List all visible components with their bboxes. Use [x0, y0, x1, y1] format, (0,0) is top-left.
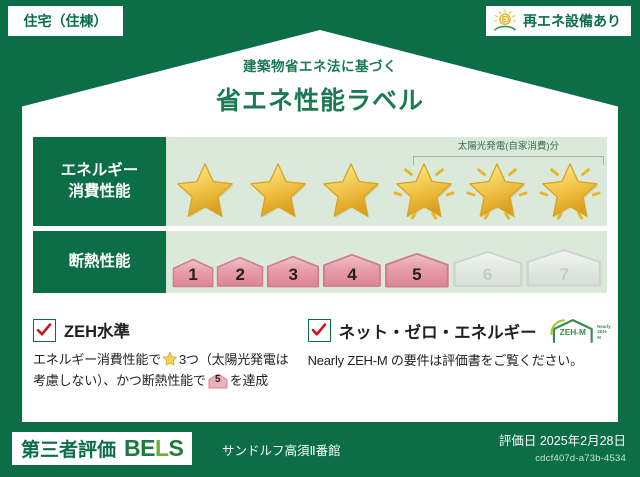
insulation-grade-tile: 5: [384, 252, 450, 288]
energy-performance-row: エネルギー 消費性能 太陽光発電(自家消費)分: [33, 137, 607, 226]
title-subtitle: 建築物省エネ法に基づく: [0, 55, 640, 75]
bels-en-label: BELS: [124, 435, 183, 462]
checkbox-checked-icon: [33, 319, 56, 342]
star-base: [170, 160, 241, 222]
inline-star-icon: [162, 351, 178, 367]
bels-jp-label: 第三者評価: [21, 435, 116, 462]
zeh-desc-part3: を達成: [230, 373, 268, 388]
inline-grade-tile: 5: [208, 373, 228, 389]
energy-label-root: 住宅（住棟） 再エネ設備あり 建築物省エネ法に基づく 省エネ性能ラベル: [0, 0, 640, 477]
category-tab: 住宅（住棟）: [8, 6, 123, 36]
insulation-grade-value: 5: [412, 266, 421, 288]
insulation-grade-tile: 1: [172, 258, 214, 288]
insulation-grade-tile: 2: [216, 256, 264, 288]
page-title: 建築物省エネ法に基づく 省エネ性能ラベル: [0, 55, 640, 117]
criteria-section: ZEH水準 エネルギー消費性能で3つ（太陽光発電は考慮しない）、かつ断熱性能で5…: [33, 318, 611, 391]
criterion-zeh-standard: ZEH水準 エネルギー消費性能で3つ（太陽光発電は考慮しない）、かつ断熱性能で5…: [33, 318, 296, 391]
star-base: [243, 160, 314, 222]
criterion-nze-header: ネット・ゼロ・エネルギー ZEH-M Nearly ZEH-M: [308, 318, 611, 343]
criterion-zeh-description: エネルギー消費性能で3つ（太陽光発電は考慮しない）、かつ断熱性能で5を達成: [33, 349, 296, 391]
solar-sun-icon: [492, 9, 518, 33]
energy-star-rating: [170, 160, 605, 222]
performance-table: エネルギー 消費性能 太陽光発電(自家消費)分 断熱性能 1234567: [33, 137, 607, 298]
insulation-grade-value: 4: [347, 266, 356, 288]
renewable-badge-label: 再エネ設備あり: [523, 11, 621, 31]
insulation-performance-label: 断熱性能: [33, 231, 166, 293]
insulation-grade-tile: 7: [525, 248, 603, 288]
inline-grade-value: 5: [208, 373, 228, 389]
zeh-m-logo-sub: Nearly ZEH-M: [597, 324, 611, 344]
energy-label-line2: 消費性能: [68, 182, 130, 203]
solar-bracket-label: 太陽光発電(自家消費)分: [411, 138, 606, 152]
star-solar: [534, 160, 605, 222]
evaluation-date: 評価日 2025年2月28日: [499, 430, 626, 449]
criterion-nze-description: Nearly ZEH-M の要件は評価書をご覧ください。: [308, 350, 611, 371]
insulation-grade-tile: 3: [266, 255, 320, 288]
criterion-zeh-title: ZEH水準: [64, 318, 130, 342]
star-base: [316, 160, 387, 222]
bels-en-part2: L: [155, 435, 169, 461]
insulation-label-line1: 断熱性能: [68, 252, 130, 273]
document-id: cdcf407d-a73b-4534: [499, 453, 626, 464]
energy-performance-body: 太陽光発電(自家消費)分: [166, 137, 607, 226]
footer-meta: 評価日 2025年2月28日 cdcf407d-a73b-4534: [499, 430, 626, 464]
bels-en-part1: BE: [124, 435, 155, 461]
energy-performance-label: エネルギー 消費性能: [33, 137, 166, 226]
property-name: サンドルフ高須Ⅱ番館: [222, 440, 341, 459]
category-tab-label: 住宅（住棟）: [24, 11, 108, 31]
insulation-grade-value: 2: [235, 266, 244, 288]
insulation-performance-row: 断熱性能 1234567: [33, 231, 607, 293]
title-main: 省エネ性能ラベル: [0, 81, 640, 117]
insulation-grade-value: 7: [559, 266, 568, 288]
zeh-m-sub-line2: ZEH-M: [597, 329, 611, 340]
star-solar: [388, 160, 459, 222]
insulation-performance-body: 1234567: [166, 231, 607, 293]
criterion-net-zero-energy: ネット・ゼロ・エネルギー ZEH-M Nearly ZEH-M Nearly Z…: [308, 318, 611, 391]
criterion-zeh-header: ZEH水準: [33, 318, 296, 342]
insulation-grade-value: 3: [288, 266, 297, 288]
zeh-m-house-icon: ZEH-M: [550, 318, 596, 343]
insulation-grade-tile: 4: [322, 253, 382, 288]
energy-label-line1: エネルギー: [61, 161, 139, 182]
star-solar: [461, 160, 532, 222]
bels-en-part3: S: [169, 435, 184, 461]
checkbox-checked-icon: [308, 319, 331, 342]
zeh-m-logo: ZEH-M Nearly ZEH-M: [550, 318, 611, 343]
renewable-energy-badge: 再エネ設備あり: [486, 6, 631, 36]
footer-bar: 第三者評価 BELS サンドルフ高須Ⅱ番館 評価日 2025年2月28日 cdc…: [0, 422, 640, 477]
insulation-grade-value: 6: [483, 266, 492, 288]
insulation-grade-tile: 6: [452, 250, 524, 288]
svg-text:ZEH-M: ZEH-M: [559, 327, 585, 337]
insulation-grade-value: 1: [188, 266, 197, 288]
criterion-nze-title: ネット・ゼロ・エネルギー: [339, 319, 537, 343]
zeh-desc-part1: エネルギー消費性能で: [33, 352, 161, 367]
bels-logo: 第三者評価 BELS: [12, 432, 192, 465]
insulation-grade-scale: 1234567: [172, 248, 603, 288]
